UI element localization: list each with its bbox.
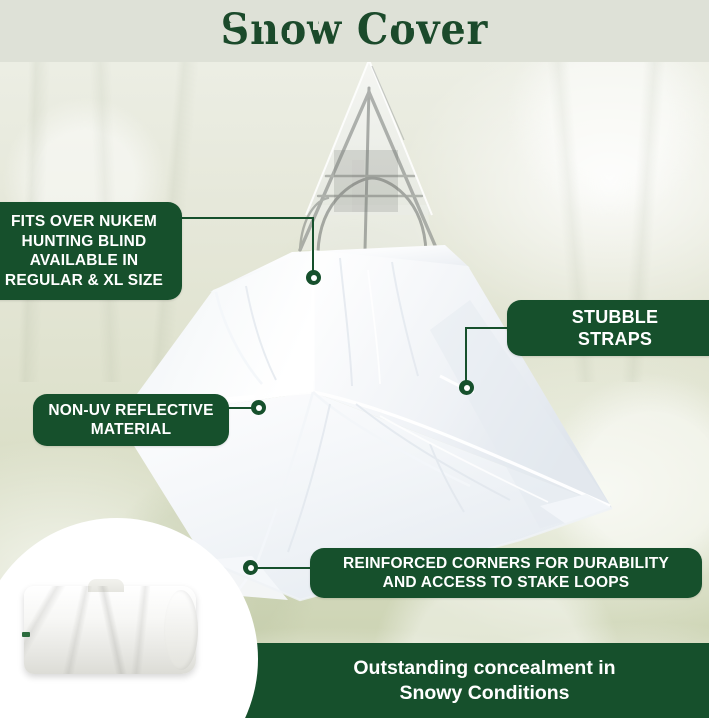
callout-non-uv-reflective: NON-UV REFLECTIVE MATERIAL (33, 394, 229, 446)
page-title: Snow Cover (28, 4, 680, 56)
stencil-slot (462, 20, 467, 29)
header-bar: Snow Cover (0, 0, 709, 62)
marker-stubble-strap (459, 380, 474, 395)
stencil-slot (313, 21, 318, 30)
leader-stubble-horizontal (466, 327, 509, 329)
callout-stubble-straps: STUBBLE STRAPS (507, 300, 709, 356)
marker-fabric (251, 400, 266, 415)
stencil-slot (411, 19, 416, 28)
folded-cover-image (24, 586, 196, 674)
callout-fits-text: FITS OVER NUKEM HUNTING BLIND AVAILABLE … (5, 212, 163, 290)
infographic-root: FITS OVER NUKEM HUNTING BLIND AVAILABLE … (0, 0, 709, 718)
blind-top-section (300, 60, 437, 252)
marker-blind-top (306, 270, 321, 285)
leader-reinforced-horizontal (256, 567, 314, 569)
roll-label-tag (22, 632, 30, 637)
stencil-slot (484, 31, 489, 38)
callout-reinforced-text: REINFORCED CORNERS FOR DURABILITY AND AC… (343, 554, 669, 592)
callout-reinforced-corners: REINFORCED CORNERS FOR DURABILITY AND AC… (310, 548, 702, 598)
callout-stubble-text: STUBBLE STRAPS (572, 306, 658, 350)
callout-fits-over-blind: FITS OVER NUKEM HUNTING BLIND AVAILABLE … (0, 202, 182, 300)
stencil-slot (287, 30, 292, 38)
callout-nonuv-text: NON-UV REFLECTIVE MATERIAL (48, 401, 213, 439)
stencil-slot (341, 33, 347, 40)
bottom-banner: Outstanding concealment in Snowy Conditi… (242, 643, 709, 718)
stencil-slot (437, 32, 442, 40)
roll-end-cap (164, 590, 198, 670)
marker-corner (243, 560, 258, 575)
leader-fits-horizontal (181, 217, 314, 219)
stencil-slot (259, 18, 264, 27)
bottom-banner-text: Outstanding concealment in Snowy Conditi… (335, 656, 615, 706)
